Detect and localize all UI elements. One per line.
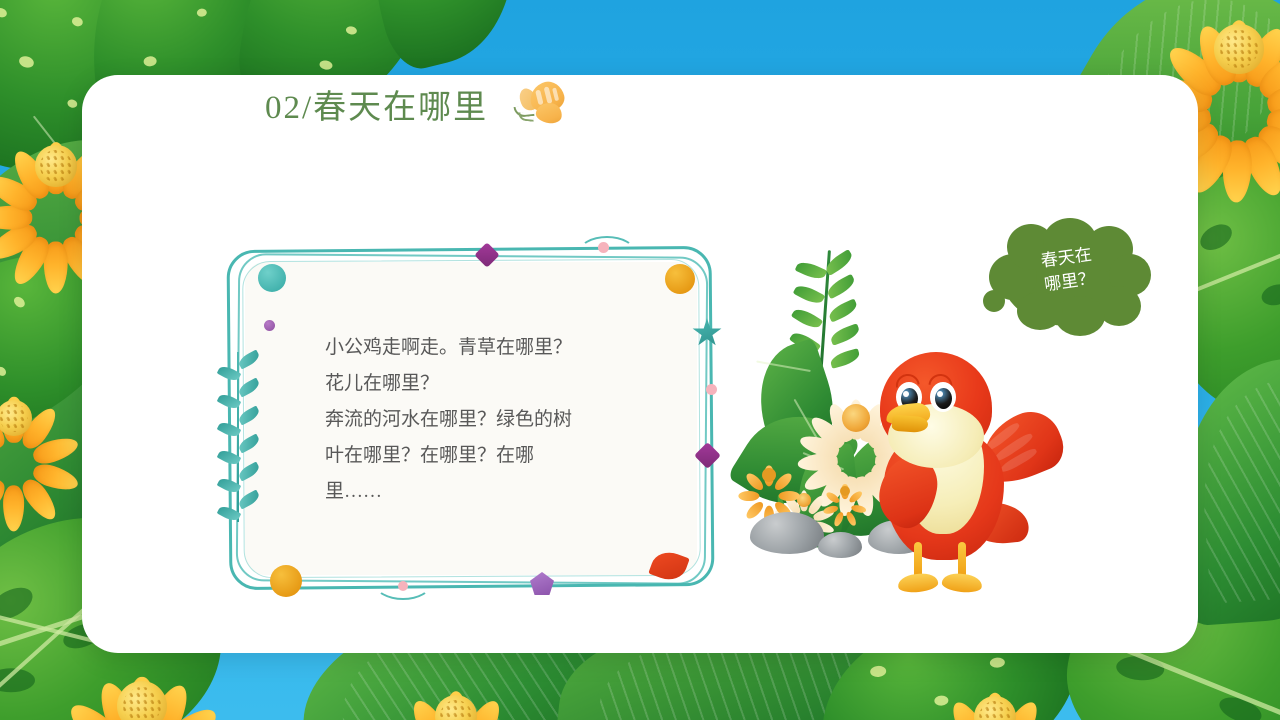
purple-dot-left-decoration xyxy=(264,320,275,331)
bird-beak-lower xyxy=(891,415,928,433)
thought-bubble-tail xyxy=(983,290,1005,312)
stone xyxy=(750,512,824,554)
page-title: 02/春天在哪里 xyxy=(265,80,570,128)
orange-flower-small xyxy=(748,454,790,496)
bird-foot xyxy=(897,572,939,594)
orange-ball-bottom-left-decoration xyxy=(270,565,302,597)
quote-line: 小公鸡走啊走。青草在哪里？ xyxy=(325,330,625,366)
page-title-text: 02/春天在哪里 xyxy=(265,80,488,128)
slide-canvas: 02/春天在哪里 xyxy=(0,0,1280,720)
thought-bubble: 春天在 哪里？ xyxy=(985,218,1153,338)
quote-line: 花儿在哪里？ xyxy=(325,366,625,402)
bird-eye-glint xyxy=(937,391,943,397)
teal-leaf-vine-decoration xyxy=(216,352,260,522)
orange-ball-top-right-decoration xyxy=(665,264,695,294)
quote-line: 奔流的河水在哪里？绿色的树 xyxy=(325,402,625,438)
butterfly-icon xyxy=(514,82,570,126)
teal-arc-bottom-decoration xyxy=(374,566,432,600)
pink-dot-right-decoration xyxy=(706,384,717,395)
quote-line: 里…… xyxy=(325,474,625,510)
background-sunflower xyxy=(400,660,512,720)
bird-foot xyxy=(941,572,983,594)
quote-text-block: 小公鸡走啊走。青草在哪里？ 花儿在哪里？ 奔流的河水在哪里？绿色的树 叶在哪里？… xyxy=(325,330,625,510)
background-leaf xyxy=(348,0,542,75)
teal-ball-top-left-decoration xyxy=(258,264,286,292)
quote-line: 叶在哪里？在哪里？在哪 xyxy=(325,438,625,474)
cartoon-bird-illustration xyxy=(862,352,1062,602)
bird-eye-glint xyxy=(903,391,909,397)
orange-flower-small xyxy=(830,476,860,506)
background-sunflower xyxy=(940,662,1050,720)
background-sunflower xyxy=(0,370,62,466)
stone xyxy=(818,532,862,558)
teal-arc-top-decoration xyxy=(578,236,636,270)
